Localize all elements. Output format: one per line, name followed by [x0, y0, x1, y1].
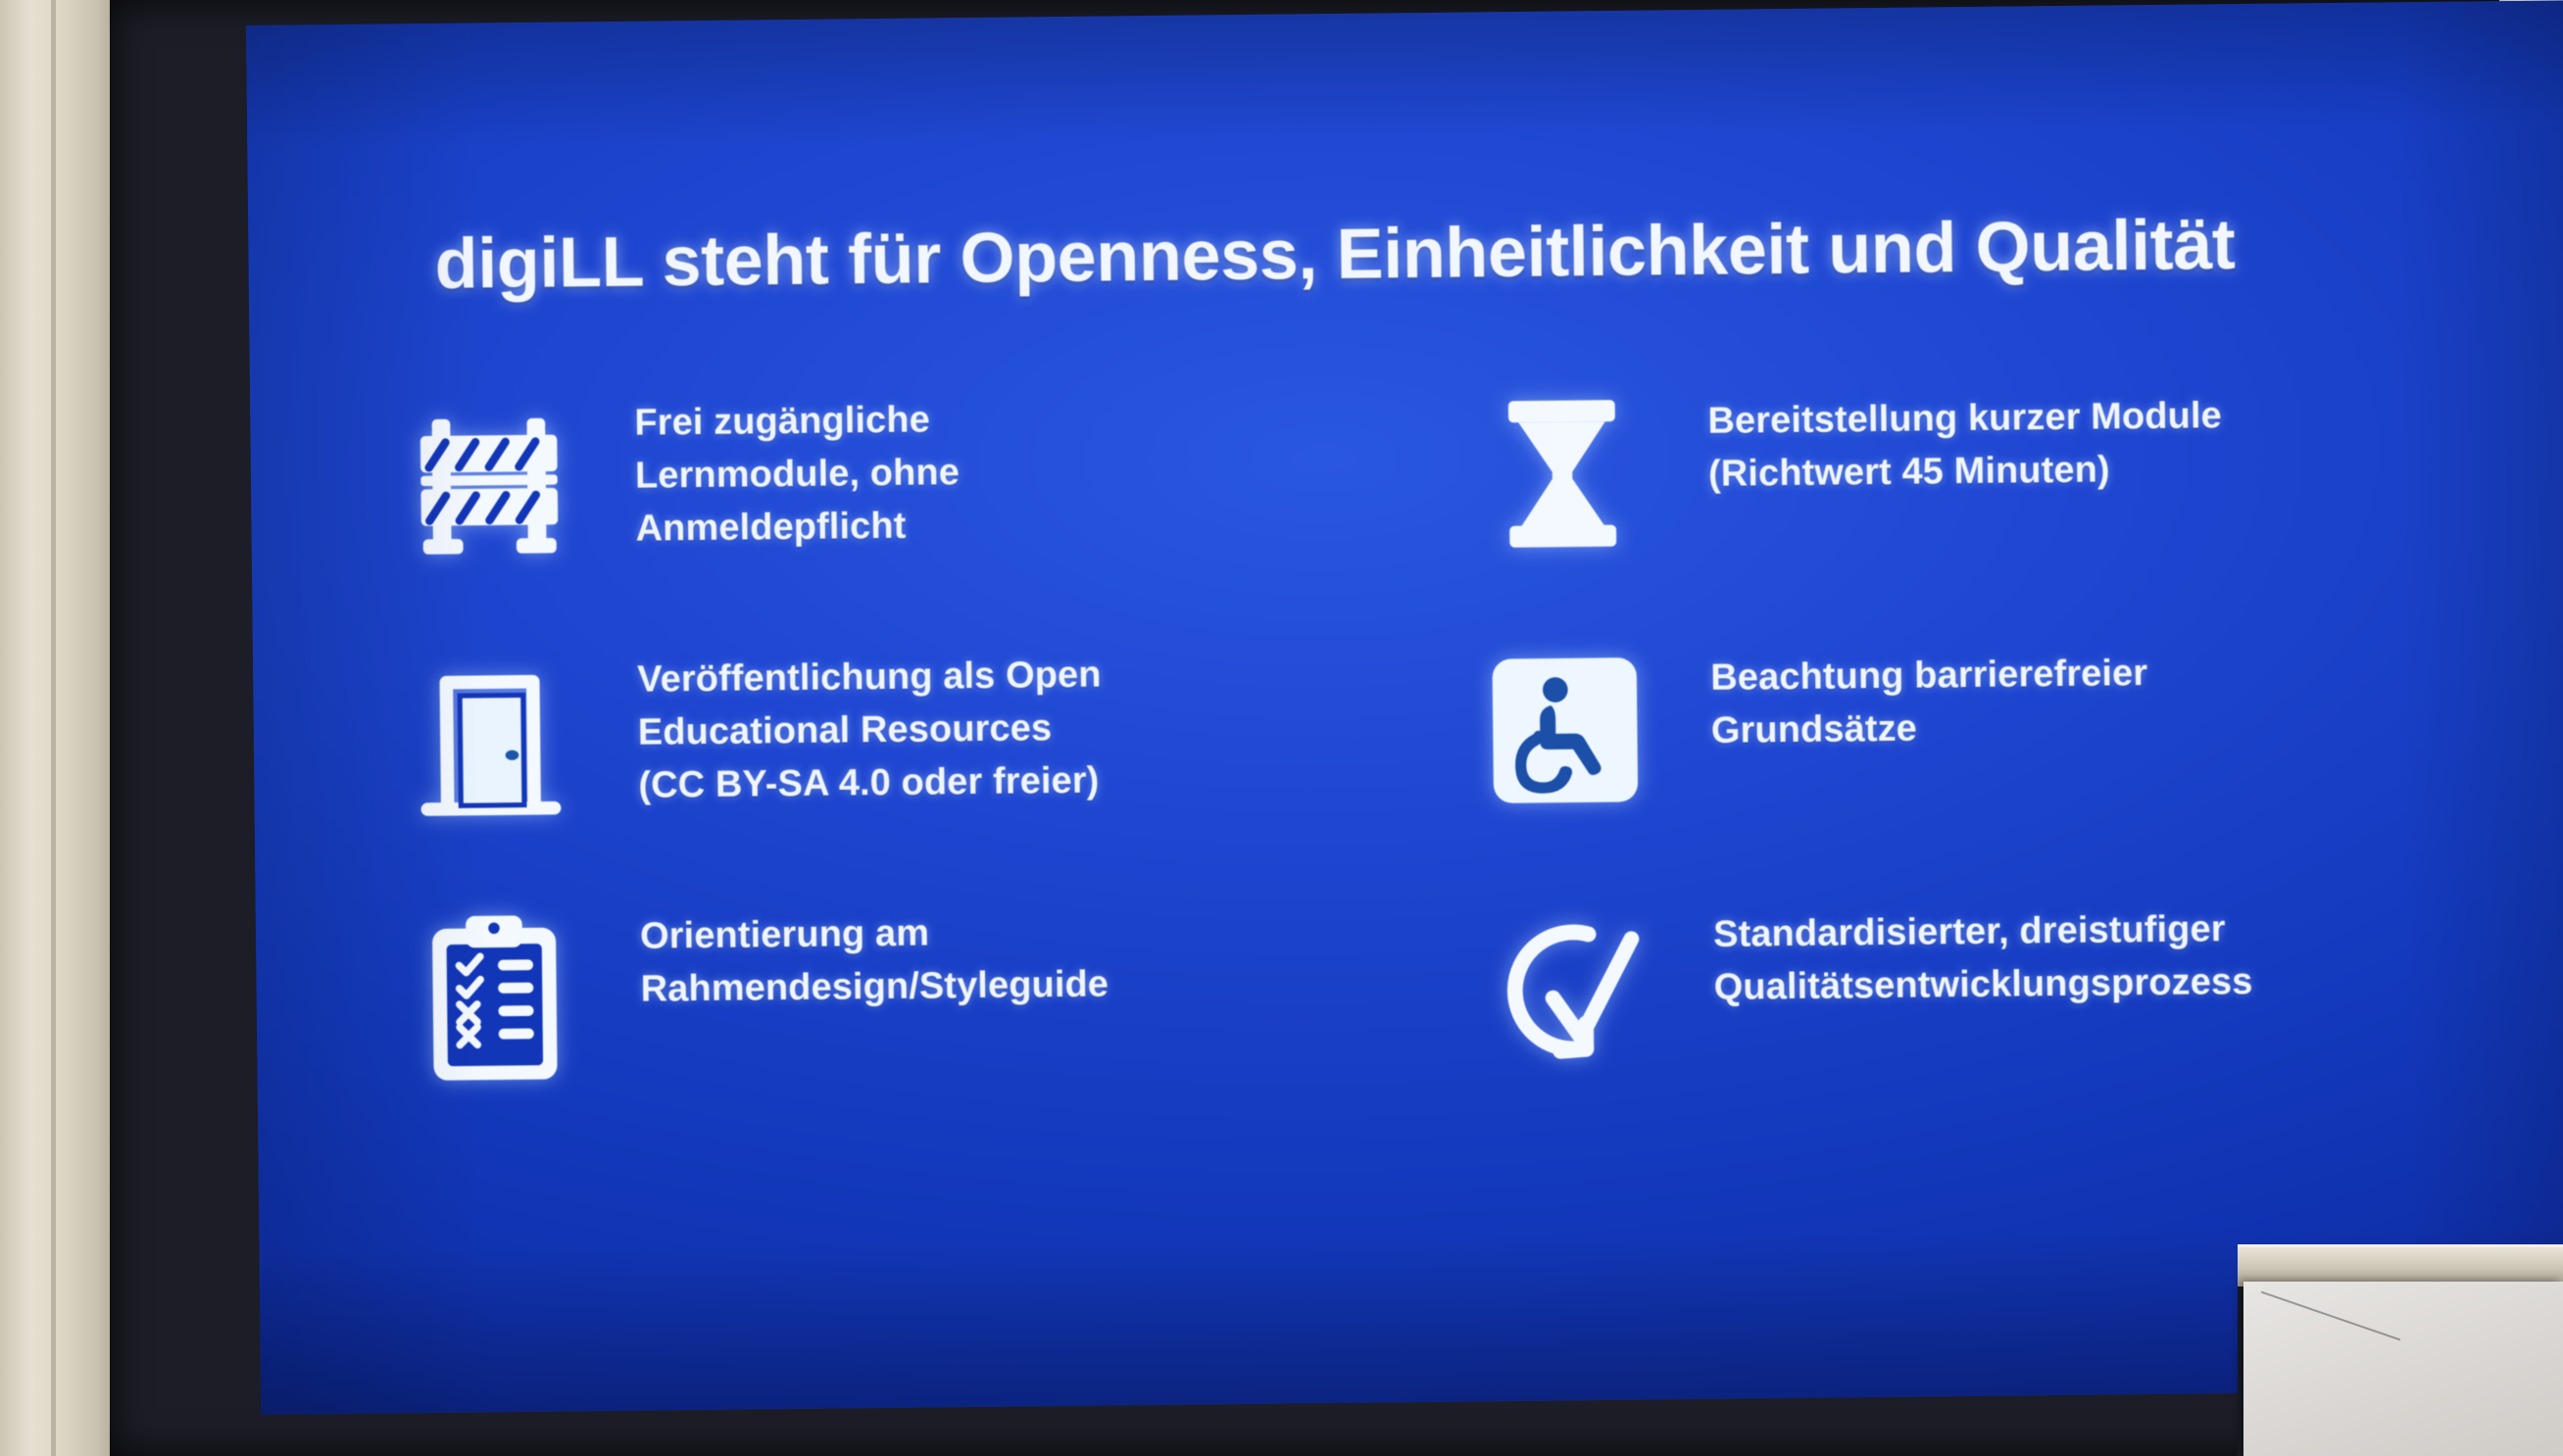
feature-grid: Frei zugängliche Lernmodule, ohne Anmeld…	[395, 365, 2481, 1158]
road-barrier-icon	[395, 386, 583, 584]
feature-text: Frei zugängliche Lernmodule, ohne Anmeld…	[634, 382, 961, 556]
feature-line: Anmeldepflicht	[635, 500, 961, 557]
feature-item: Orientierung am Rahmendesign/Styleguide	[401, 891, 1408, 1158]
feature-line: Grundsätze	[1711, 701, 2148, 758]
feature-line: Frei zugängliche	[634, 394, 960, 451]
flipchart	[2238, 1244, 2563, 1456]
hourglass-icon	[1468, 374, 1656, 572]
feature-text: Standardisierter, dreistufiger Qualitäts…	[1713, 882, 2253, 1015]
wheelchair-accessibility-icon	[1471, 631, 1659, 829]
presentation-slide: digiLL steht für Openness, Einheitlichke…	[246, 0, 2563, 1415]
feature-line: Qualitätsentwicklungsprozess	[1713, 956, 2252, 1015]
clipboard-checklist-icon	[401, 899, 589, 1097]
feature-text: Beachtung barrierefreier Grundsätze	[1710, 626, 2148, 758]
feature-line: Standardisierter, dreistufiger	[1713, 903, 2252, 962]
feature-line: (CC BY-SA 4.0 oder freier)	[638, 754, 1103, 812]
feature-line: (Richtwert 45 Minuten)	[1708, 443, 2223, 502]
feature-item: Veröffentlichung als Open Educational Re…	[398, 634, 1405, 901]
feature-line: Rahmendesign/Styleguide	[640, 958, 1109, 1016]
feature-line: Veröffentlichung als Open	[637, 650, 1102, 707]
feature-item: Standardisierter, dreistufiger Qualitäts…	[1474, 879, 2482, 1146]
feature-item: Beachtung barrierefreier Grundsätze	[1471, 622, 2479, 890]
feature-line: Lernmodule, ohne	[635, 447, 961, 504]
feature-line: Beachtung barrierefreier	[1710, 648, 2147, 705]
feature-text: Orientierung am Rahmendesign/Styleguide	[640, 895, 1109, 1017]
refresh-check-icon	[1474, 888, 1662, 1086]
photo-of-projected-slide: digiLL steht für Openness, Einheitlichke…	[0, 0, 2563, 1456]
slide-title: digiLL steht für Openness, Einheitlichke…	[434, 206, 2415, 304]
feature-line: Bereitstellung kurzer Module	[1707, 390, 2222, 449]
screen-bezel: digiLL steht für Openness, Einheitlichke…	[110, 0, 2499, 1456]
feature-line: Orientierung am	[640, 906, 1109, 964]
wall-left	[0, 0, 110, 1456]
feature-item: Frei zugängliche Lernmodule, ohne Anmeld…	[395, 377, 1403, 645]
feature-line: Educational Resources	[638, 703, 1103, 760]
open-door-icon	[398, 643, 586, 841]
feature-text: Bereitstellung kurzer Module (Richtwert …	[1707, 368, 2223, 502]
feature-item: Bereitstellung kurzer Module (Richtwert …	[1468, 365, 2476, 633]
flipchart-paper	[2243, 1282, 2563, 1456]
flipchart-rail	[2238, 1244, 2563, 1286]
feature-text: Veröffentlichung als Open Educational Re…	[637, 638, 1103, 813]
